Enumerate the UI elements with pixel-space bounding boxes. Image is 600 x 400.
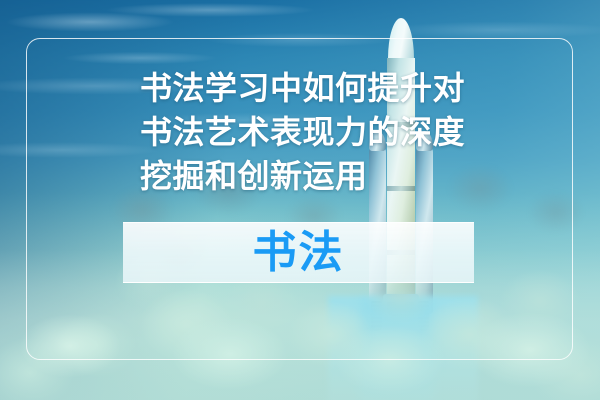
headline-text: 书法学习中如何提升对 书法艺术表现力的深度 挖掘和创新运用: [140, 66, 480, 198]
keyword-badge-bar: 书法: [123, 222, 474, 283]
background-image: [0, 0, 600, 400]
keyword-label: 书法: [253, 231, 345, 275]
atmospheric-haze: [0, 0, 600, 400]
banner: 书法学习中如何提升对 书法艺术表现力的深度 挖掘和创新运用 书法: [0, 0, 600, 400]
